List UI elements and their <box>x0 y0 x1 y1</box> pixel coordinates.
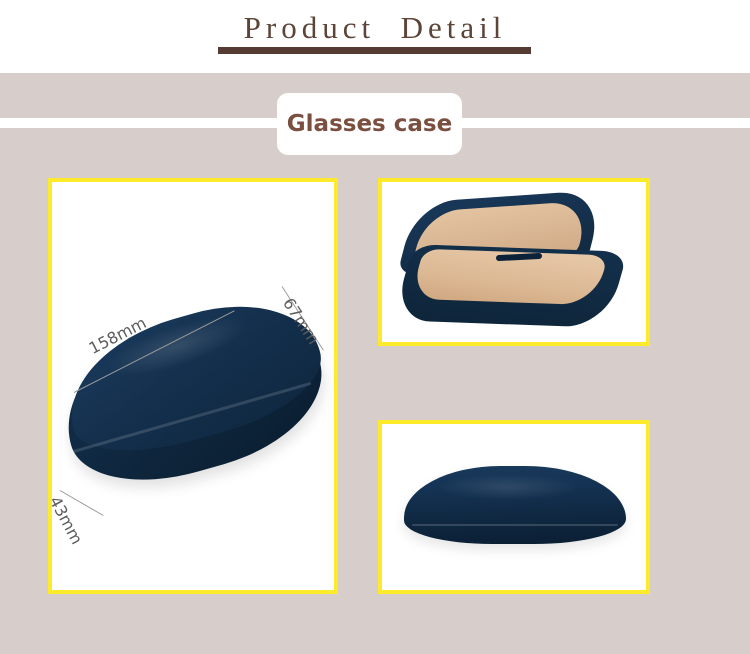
product-photo-panel-dimensions: 158mm 67mm 43mm <box>48 178 338 594</box>
product-photo-panel-open <box>378 178 650 346</box>
glasses-case-open-image <box>400 196 628 330</box>
case-closed-highlight <box>438 474 578 500</box>
section-label-text: Glasses case <box>277 93 462 155</box>
page-title: Product Detail <box>0 10 750 46</box>
product-photo-panel-closed <box>378 420 650 594</box>
case-closed-seam <box>412 524 618 526</box>
section-label-chip: Glasses case <box>277 93 462 155</box>
glasses-case-closed-image <box>404 466 626 550</box>
page-header: Product Detail <box>0 0 750 73</box>
title-underline-rule <box>218 47 531 54</box>
